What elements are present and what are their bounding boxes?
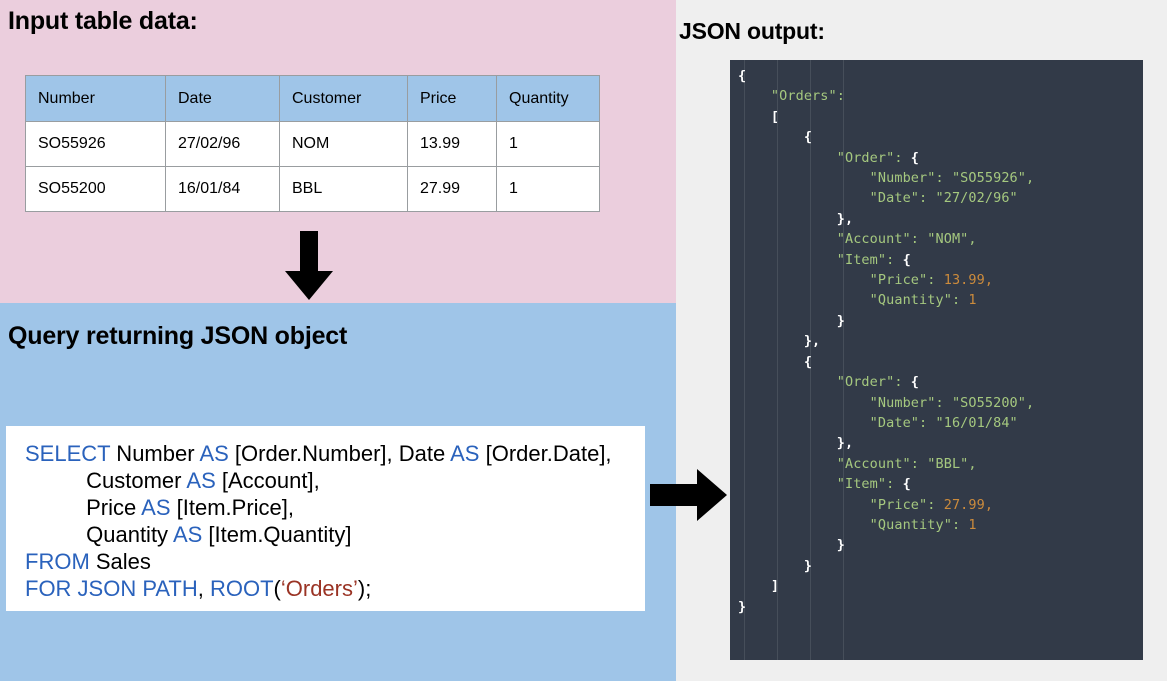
json-token: [ xyxy=(771,109,779,125)
table-cell-quantity: 1 xyxy=(497,122,600,167)
json-token: "Account" xyxy=(837,456,911,472)
json-token: 1 xyxy=(968,292,976,308)
table-row: SO55200 16/01/84 BBL 27.99 1 xyxy=(26,167,600,212)
json-token: "27/02/96" xyxy=(936,190,1018,206)
json-token xyxy=(738,476,837,492)
json-token: { xyxy=(911,150,919,166)
json-token: } xyxy=(837,313,845,329)
json-token: { xyxy=(738,68,746,84)
sql-token: Customer xyxy=(25,468,186,493)
json-token: { xyxy=(903,476,911,492)
sql-token: SELECT xyxy=(25,441,110,466)
json-token xyxy=(738,231,837,247)
json-token xyxy=(738,374,837,390)
json-token xyxy=(738,129,804,145)
sql-token: Number xyxy=(110,441,199,466)
json-token: "Number" xyxy=(870,395,936,411)
json-token: : xyxy=(911,456,927,472)
page-title-query: Query returning JSON object xyxy=(8,322,347,351)
json-token xyxy=(738,578,771,594)
table-column-header-quantity: Quantity xyxy=(497,76,600,122)
json-token xyxy=(738,395,870,411)
table-column-header-price: Price xyxy=(408,76,497,122)
table-column-header-customer: Customer xyxy=(280,76,408,122)
json-token: "Date" xyxy=(870,190,919,206)
json-token: } xyxy=(804,558,812,574)
json-token: "Price" xyxy=(870,272,928,288)
table-row: SO55926 27/02/96 NOM 13.99 1 xyxy=(26,122,600,167)
json-token: : xyxy=(952,517,968,533)
sql-token: ROOT xyxy=(210,576,274,601)
json-token: : xyxy=(919,415,935,431)
json-token: "Order" xyxy=(837,374,895,390)
json-token: : xyxy=(952,292,968,308)
json-token xyxy=(738,497,870,513)
table-cell-customer: BBL xyxy=(280,167,408,212)
page-title-input-table: Input table data: xyxy=(8,7,198,36)
json-output-code: { "Orders": [ { "Order": { "Number": "SO… xyxy=(738,66,1034,617)
json-token: 27.99 xyxy=(944,497,985,513)
json-token: { xyxy=(804,129,812,145)
sql-token: AS xyxy=(199,441,228,466)
sql-token: [Order.Date], xyxy=(479,441,611,466)
json-token: , xyxy=(985,272,993,288)
json-token xyxy=(738,415,870,431)
sql-token: AS xyxy=(450,441,479,466)
sql-token: [Item.Price], xyxy=(171,495,294,520)
json-token: }, xyxy=(804,333,820,349)
json-token: "Quantity" xyxy=(870,517,952,533)
arrow-right-icon xyxy=(650,468,728,522)
json-token xyxy=(738,313,837,329)
json-token: "SO55200", xyxy=(952,395,1034,411)
sql-token: ); xyxy=(358,576,371,601)
json-token: "Item" xyxy=(837,252,886,268)
sql-query-code: SELECT Number AS [Order.Number], Date AS… xyxy=(25,440,612,602)
json-token xyxy=(738,211,837,227)
table-cell-price: 27.99 xyxy=(408,167,497,212)
sql-token: ( xyxy=(274,576,281,601)
json-token: : xyxy=(886,252,902,268)
json-token xyxy=(738,252,837,268)
json-token: : xyxy=(935,170,951,186)
table-column-header-number: Number xyxy=(26,76,166,122)
table-cell-quantity: 1 xyxy=(497,167,600,212)
sql-token: [Account], xyxy=(216,468,320,493)
sql-token: AS xyxy=(173,522,202,547)
table-cell-date: 27/02/96 xyxy=(166,122,280,167)
json-token: "Number" xyxy=(870,170,936,186)
json-token: } xyxy=(837,537,845,553)
json-token xyxy=(738,537,837,553)
json-token: "NOM", xyxy=(927,231,976,247)
json-token xyxy=(738,354,804,370)
json-token xyxy=(738,170,870,186)
json-token: "Quantity" xyxy=(870,292,952,308)
json-token: "16/01/84" xyxy=(936,415,1018,431)
sql-token: FOR JSON PATH xyxy=(25,576,198,601)
sql-token: AS xyxy=(186,468,215,493)
json-token: : xyxy=(886,476,902,492)
json-token: { xyxy=(903,252,911,268)
json-token: ] xyxy=(771,578,779,594)
sql-token: [Item.Quantity] xyxy=(202,522,351,547)
json-token xyxy=(738,456,837,472)
json-token: } xyxy=(738,599,746,615)
json-token: }, xyxy=(837,435,853,451)
json-token xyxy=(738,88,771,104)
page-title-json-output: JSON output: xyxy=(679,18,825,45)
sql-token: AS xyxy=(141,495,170,520)
json-output-panel: { "Orders": [ { "Order": { "Number": "SO… xyxy=(730,60,1143,660)
json-token: "Orders" xyxy=(771,88,837,104)
json-token: : xyxy=(927,497,943,513)
json-token: 1 xyxy=(968,517,976,533)
table-header-row: Number Date Customer Price Quantity xyxy=(26,76,600,122)
sql-token: [Order.Number], Date xyxy=(229,441,450,466)
json-token: }, xyxy=(837,211,853,227)
json-token: { xyxy=(804,354,812,370)
json-token: "Item" xyxy=(837,476,886,492)
json-token: "SO55926", xyxy=(952,170,1034,186)
json-token: "BBL", xyxy=(927,456,976,472)
json-token: : xyxy=(894,374,910,390)
json-token xyxy=(738,292,870,308)
table-cell-number: SO55926 xyxy=(26,122,166,167)
sql-token: Quantity xyxy=(25,522,173,547)
sql-token: Price xyxy=(25,495,141,520)
json-token: : xyxy=(911,231,927,247)
json-token xyxy=(738,272,870,288)
sql-token: , xyxy=(198,576,210,601)
table-cell-number: SO55200 xyxy=(26,167,166,212)
json-token xyxy=(738,190,870,206)
json-token xyxy=(738,435,837,451)
json-token: "Price" xyxy=(870,497,928,513)
json-token xyxy=(738,333,804,349)
json-token: : xyxy=(927,272,943,288)
table-cell-customer: NOM xyxy=(280,122,408,167)
json-token: { xyxy=(911,374,919,390)
sql-token: Sales xyxy=(90,549,151,574)
json-token xyxy=(738,150,837,166)
sql-token: ‘Orders’ xyxy=(281,576,358,601)
json-token: , xyxy=(985,497,993,513)
json-token: "Account" xyxy=(837,231,911,247)
table-cell-date: 16/01/84 xyxy=(166,167,280,212)
json-token: 13.99 xyxy=(944,272,985,288)
sql-query-box: SELECT Number AS [Order.Number], Date AS… xyxy=(6,426,645,611)
input-data-table: Number Date Customer Price Quantity SO55… xyxy=(25,75,600,212)
sql-token: FROM xyxy=(25,549,90,574)
json-token: : xyxy=(919,190,935,206)
json-token xyxy=(738,558,804,574)
json-token: : xyxy=(935,395,951,411)
table-column-header-date: Date xyxy=(166,76,280,122)
table-cell-price: 13.99 xyxy=(408,122,497,167)
json-token: "Order" xyxy=(837,150,895,166)
arrow-down-icon xyxy=(284,231,334,301)
json-token xyxy=(738,517,870,533)
json-token: : xyxy=(894,150,910,166)
json-token: "Date" xyxy=(870,415,919,431)
json-token: : xyxy=(837,88,845,104)
json-token xyxy=(738,109,771,125)
